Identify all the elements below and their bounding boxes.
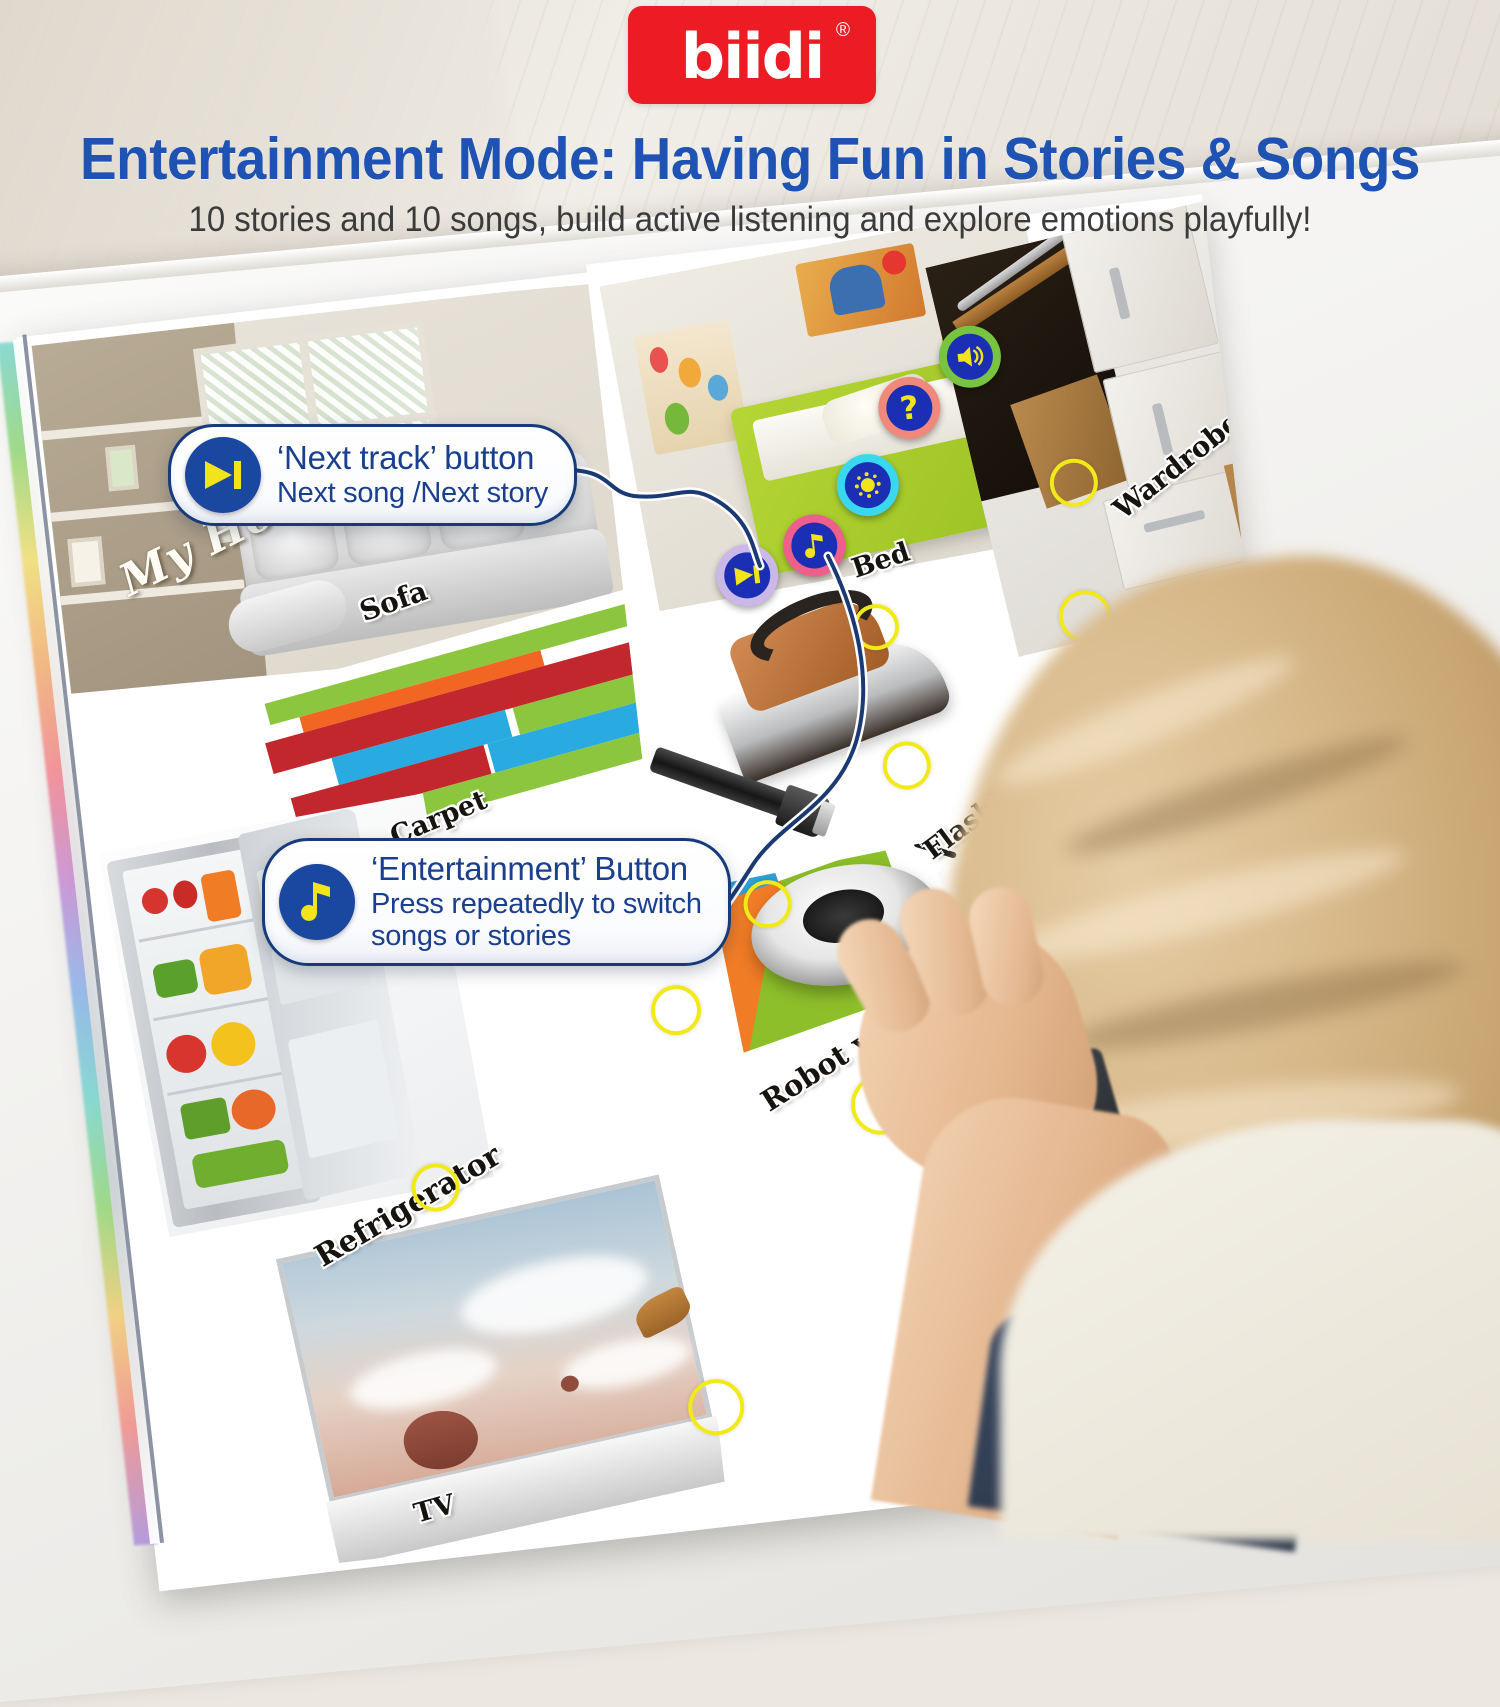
oven-photo (938, 792, 1323, 1163)
fridge-food-item (152, 958, 199, 999)
callout-text: ‘Next track’ button Next song /Next stor… (277, 440, 548, 509)
next-track-icon (722, 550, 773, 601)
brand-logo: biidi ® (628, 6, 876, 104)
oven-display (1167, 834, 1230, 874)
flashlight-tube (649, 746, 799, 821)
tv-photo (259, 1158, 729, 1571)
next-track-icon (185, 437, 261, 513)
fridge-rack (153, 997, 270, 1021)
page-subheadline: 10 stories and 10 songs, build active li… (45, 200, 1455, 240)
fridge-rack (139, 918, 256, 942)
fridge-food-item (191, 1139, 290, 1190)
fridge-food-item (208, 1019, 259, 1070)
page-headline: Entertainment Mode: Having Fun in Storie… (53, 125, 1448, 193)
fridge-food-item (140, 886, 170, 916)
picture-frame (105, 445, 139, 492)
music-note-glyph (296, 878, 338, 926)
fridge-food-item (198, 942, 254, 996)
light-bulb-glyph (851, 469, 884, 502)
label-iron: Iron (1118, 628, 1189, 681)
callout-title: ‘Next track’ button (277, 440, 548, 477)
registered-trademark-icon: ® (836, 20, 850, 42)
fridge-food-item (200, 869, 242, 922)
cloud (345, 1338, 503, 1421)
oven-knob[interactable] (978, 892, 1015, 929)
callout-title: ‘Entertainment’ Button (371, 851, 702, 888)
question-mark-icon: ? (884, 382, 935, 433)
fridge-food-item (163, 1032, 209, 1077)
next-track-glyph (200, 457, 246, 493)
fridge-food-item (171, 878, 200, 910)
rock-formation (399, 1404, 484, 1477)
label-coo-partial: Coo (1141, 726, 1206, 775)
question-mark-glyph: ? (898, 391, 920, 425)
callout-entertainment[interactable]: ‘Entertainment’ Button Press repeatedly … (262, 838, 731, 966)
fridge-crisper-drawer (288, 1019, 399, 1158)
callout-description: Next song /Next story (277, 477, 548, 509)
callout-description-line2: songs or stories (371, 920, 702, 952)
fridge-food-item (180, 1097, 232, 1141)
cloud (454, 1241, 654, 1349)
oven-knob[interactable] (1071, 868, 1108, 905)
fridge-food-item (228, 1086, 279, 1133)
oven-knob[interactable] (1024, 880, 1061, 917)
music-note-glyph (800, 529, 829, 562)
next-track-glyph (731, 562, 764, 589)
picture-frame (67, 536, 105, 587)
callout-description-line1: Press repeatedly to switch (371, 888, 702, 920)
brand-wordmark: biidi (681, 26, 824, 88)
callout-text: ‘Entertainment’ Button Press repeatedly … (371, 851, 702, 953)
music-note-icon (279, 864, 355, 940)
cloud (558, 1327, 694, 1398)
music-note-icon (789, 520, 840, 571)
speaker-glyph (954, 342, 987, 371)
speaker-icon (944, 331, 995, 382)
callout-next-track[interactable]: ‘Next track’ button Next song /Next stor… (168, 424, 577, 526)
light-bulb-icon (842, 460, 893, 511)
